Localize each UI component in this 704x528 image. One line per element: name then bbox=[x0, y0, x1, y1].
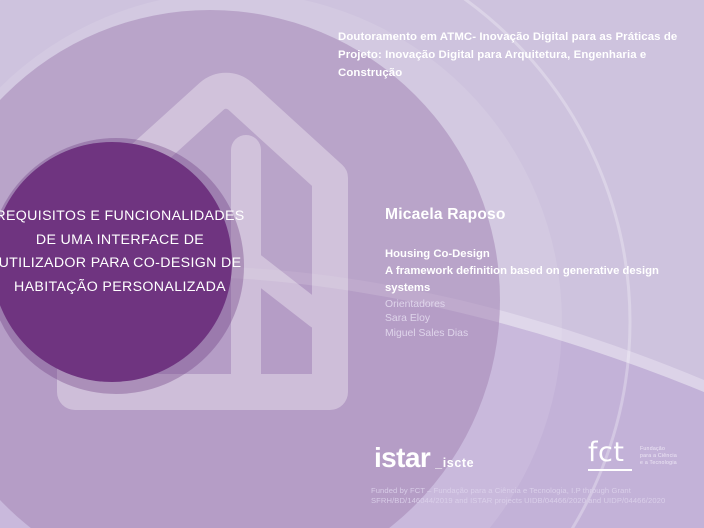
istar-wordmark: istar bbox=[374, 444, 430, 472]
supervisors-label: Orientadores bbox=[385, 298, 645, 312]
fct-tagline-line-3: e a Tecnologia bbox=[640, 460, 677, 466]
work-title-block: Housing Co-Design A framework definition… bbox=[385, 246, 695, 297]
fct-tagline-line-1: Fundação bbox=[640, 446, 665, 452]
fct-logo: fct Fundação para a Ciência e a Tecnolog… bbox=[588, 440, 677, 472]
supervisor-name-1: Sara Eloy bbox=[385, 312, 645, 326]
presentation-slide: Doutoramento em ATMC- Inovação Digital p… bbox=[0, 0, 704, 528]
istar-iscte-logo: istar _iscte bbox=[374, 444, 474, 472]
author-name: Micaela Raposo bbox=[385, 206, 506, 224]
supervisors-block: Orientadores Sara Eloy Miguel Sales Dias bbox=[385, 298, 645, 341]
work-subtitle: A framework definition based on generati… bbox=[385, 263, 695, 297]
program-line: Doutoramento em ATMC- Inovação Digital p… bbox=[338, 28, 700, 82]
funding-note: Funded by FCT – Fundação para a Ciência … bbox=[371, 486, 701, 507]
iscte-wordmark: _iscte bbox=[435, 457, 474, 470]
work-title: Housing Co-Design bbox=[385, 246, 695, 263]
fct-mark: fct bbox=[588, 440, 634, 472]
fct-tagline-line-2: para a Ciência bbox=[640, 453, 677, 459]
fct-underline bbox=[588, 469, 632, 471]
fct-lettermark: fct bbox=[588, 437, 624, 468]
fct-tagline: Fundação para a Ciência e a Tecnologia bbox=[640, 446, 677, 468]
page-title: REQUISITOS E FUNCIONALIDADES DE UMA INTE… bbox=[0, 205, 248, 299]
supervisor-name-2: Miguel Sales Dias bbox=[385, 327, 645, 341]
